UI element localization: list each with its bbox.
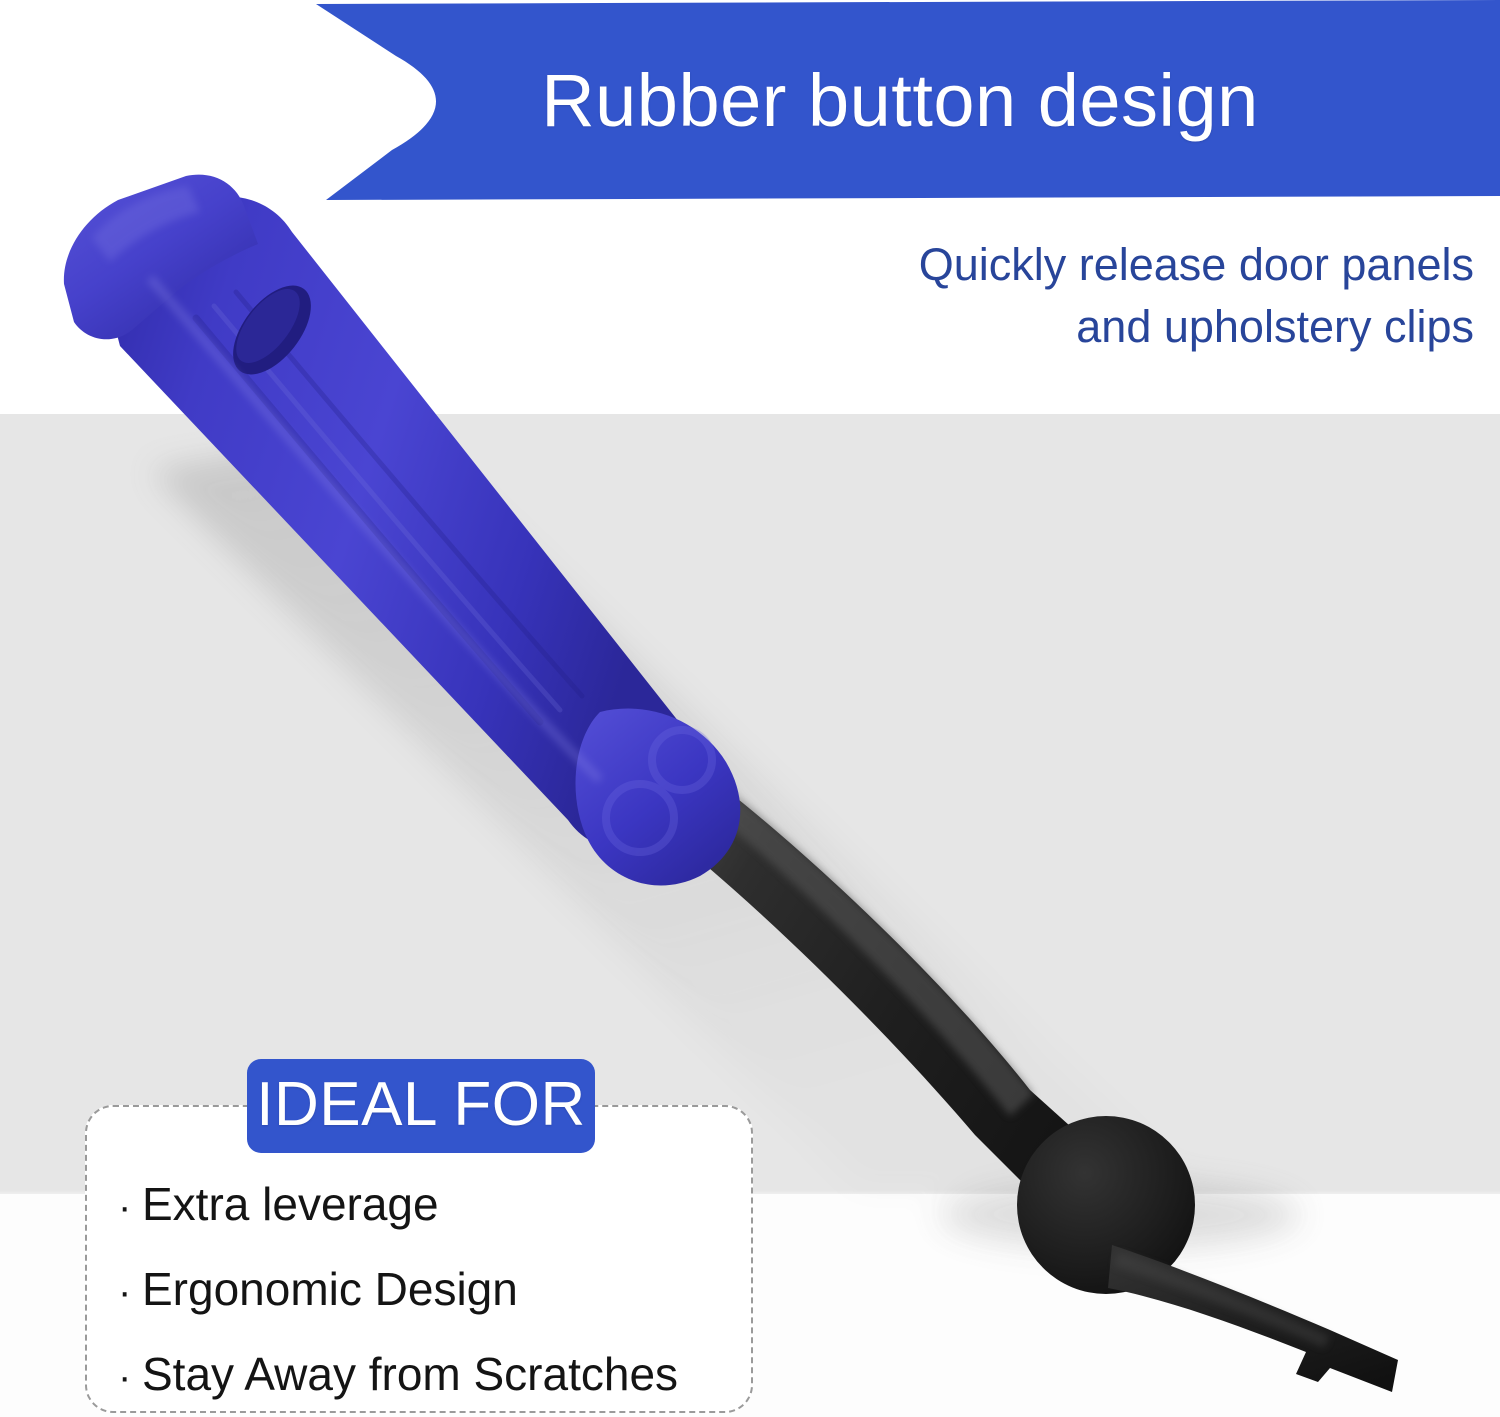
bullet-icon: · [118,1336,142,1417]
ribbon-banner: Rubber button design [300,0,1500,200]
list-item-label: Stay Away from Scratches [142,1333,678,1415]
background-gray-backdrop [0,414,1500,1196]
subtitle-line-2: and upholstery clips [574,296,1474,358]
bullet-icon: · [118,1166,142,1248]
list-item: · Extra leverage [118,1163,758,1248]
list-item: · Stay Away from Scratches [118,1333,758,1417]
banner-title: Rubber button design [300,0,1500,200]
list-item-label: Ergonomic Design [142,1248,518,1330]
list-item-label: Extra leverage [142,1163,439,1245]
ideal-for-list: · Extra leverage · Ergonomic Design · St… [118,1163,758,1417]
subtitle-line-1: Quickly release door panels [574,234,1474,296]
list-item: · Ergonomic Design [118,1248,758,1333]
bullet-icon: · [118,1251,142,1333]
subtitle: Quickly release door panels and upholste… [574,234,1474,358]
product-feature-image: Rubber button design Quickly release doo… [0,0,1500,1417]
ideal-for-badge: IDEAL FOR [247,1059,595,1153]
